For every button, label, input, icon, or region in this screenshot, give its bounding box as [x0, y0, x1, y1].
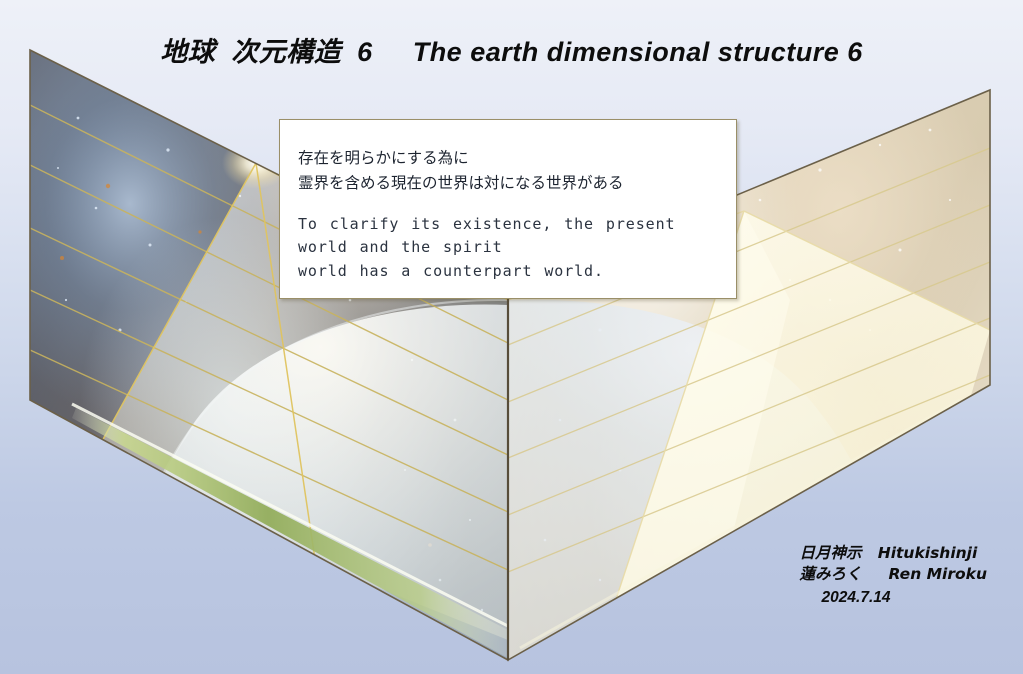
signature-date: 2024.7.14: [800, 586, 987, 609]
slide-canvas: 地球 次元構造 6 The earth dimensional structur…: [0, 0, 1023, 674]
caption-spacer: [298, 196, 736, 213]
page-title: 地球 次元構造 6 The earth dimensional structur…: [0, 30, 1023, 69]
signature-block: 日月神示 Hitukishinji 蓮みろく Ren Miroku 2024.7…: [800, 543, 987, 609]
caption-textbox: 存在を明らかにする為に 霊界を含める現在の世界は対になる世界がある To cla…: [279, 119, 737, 299]
caption-japanese-text: 存在を明らかにする為に 霊界を含める現在の世界は対になる世界がある: [298, 146, 736, 196]
signature-author-line2: 蓮みろく Ren Miroku: [800, 564, 987, 585]
caption-english-text: To clarify its existence, the present wo…: [298, 213, 736, 283]
signature-author-line1: 日月神示 Hitukishinji: [800, 543, 987, 564]
